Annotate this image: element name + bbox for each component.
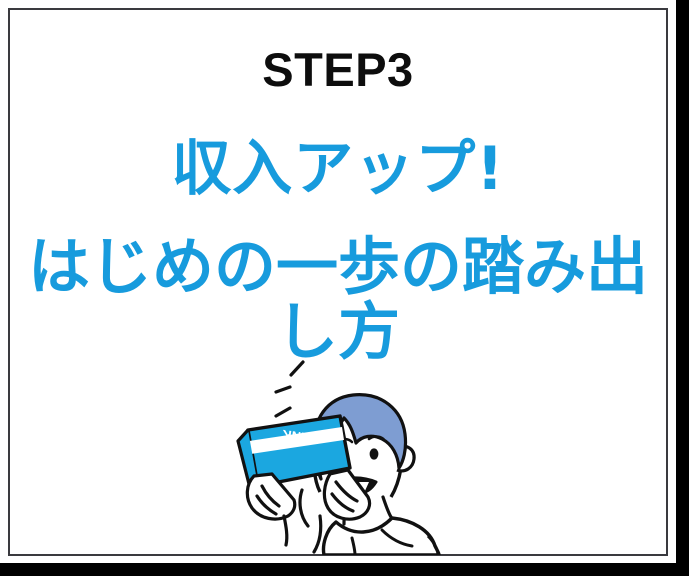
slide-root: STEP3 収入アップ! はじめの一歩の踏み出し方	[0, 0, 689, 576]
illustration-person-holding-bankbook: BANK	[232, 340, 452, 555]
hand-left-icon	[247, 474, 294, 545]
step-label: STEP3	[10, 46, 666, 93]
neck-right	[383, 497, 391, 517]
slide-card: STEP3 収入アップ! はじめの一歩の踏み出し方	[8, 8, 668, 556]
illustration-svg: BANK	[232, 340, 452, 555]
slide-shadow-bottom	[0, 563, 689, 576]
eye-right	[370, 448, 379, 459]
torso-shirt	[324, 518, 440, 555]
slide-shadow-right	[676, 0, 689, 576]
slide-shadow-corner	[676, 0, 689, 13]
headline-line-1: 収入アップ!	[10, 138, 666, 201]
sparkle-lines-icon	[276, 362, 303, 416]
